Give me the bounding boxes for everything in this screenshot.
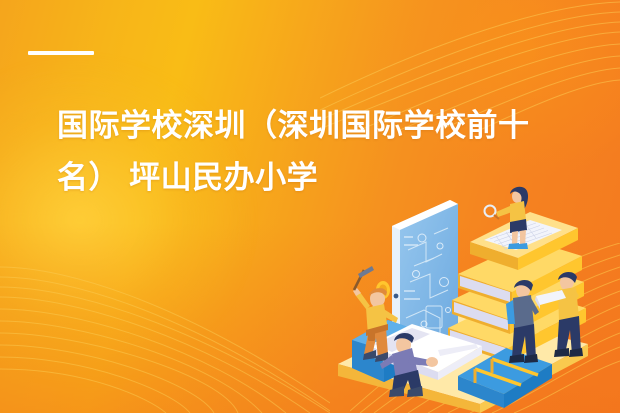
article-banner: 国际学校深圳（深圳国际学校前十名） 坪山民办小学 — [0, 0, 620, 413]
education-books-people-illustration — [330, 178, 620, 413]
title-divider — [28, 51, 94, 55]
